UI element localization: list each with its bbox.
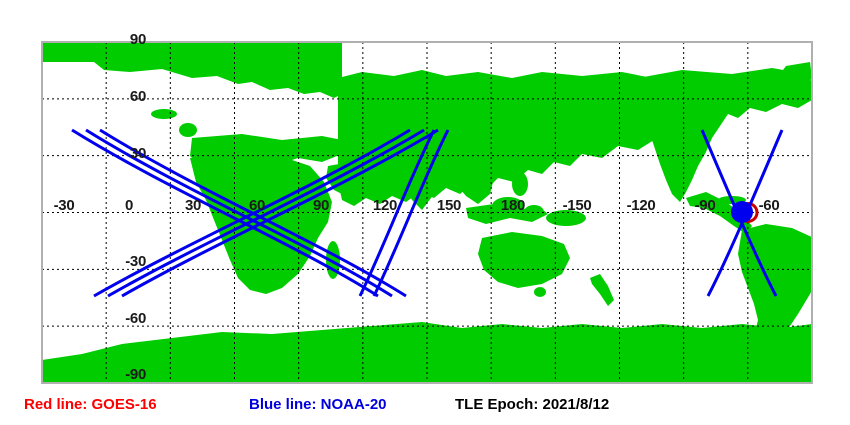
lat-label-m60: -60 (102, 311, 146, 326)
lat-label-60: 60 (108, 89, 146, 104)
legend-bar: Red line: GOES-16 Blue line: NOAA-20 TLE… (0, 393, 850, 419)
legend-noaa20: Blue line: NOAA-20 (249, 397, 387, 412)
land-british-isles (179, 123, 197, 137)
lon-label-150: 150 (422, 198, 476, 213)
lon-label-120: 120 (358, 198, 412, 213)
lon-label-0: 0 (113, 198, 145, 213)
lon-label-m150: -150 (546, 198, 608, 213)
land-iceland (151, 109, 177, 119)
lon-label-30: 30 (170, 198, 216, 213)
lat-label-30: 30 (108, 146, 146, 161)
lon-label-m60: -60 (738, 198, 800, 213)
lon-label-m120: -120 (610, 198, 672, 213)
lat-label-m30: -30 (102, 254, 146, 269)
lat-label-m90: -90 (102, 367, 146, 382)
lon-label-m90: -90 (674, 198, 736, 213)
lon-label-180: 180 (486, 198, 540, 213)
lon-label-90: 90 (298, 198, 344, 213)
land-philippines (512, 172, 528, 196)
lat-label-90: 90 (108, 32, 146, 47)
legend-goes16: Red line: GOES-16 (24, 397, 157, 412)
land-tasmania (534, 287, 546, 297)
legend-tle-epoch: TLE Epoch: 2021/8/12 (455, 397, 609, 412)
lon-label-60: 60 (234, 198, 280, 213)
lon-label-m30: -30 (41, 198, 87, 213)
satellite-ground-track-view: 90 60 30 -30 -60 -90 -30 0 30 60 90 120 … (0, 0, 850, 425)
